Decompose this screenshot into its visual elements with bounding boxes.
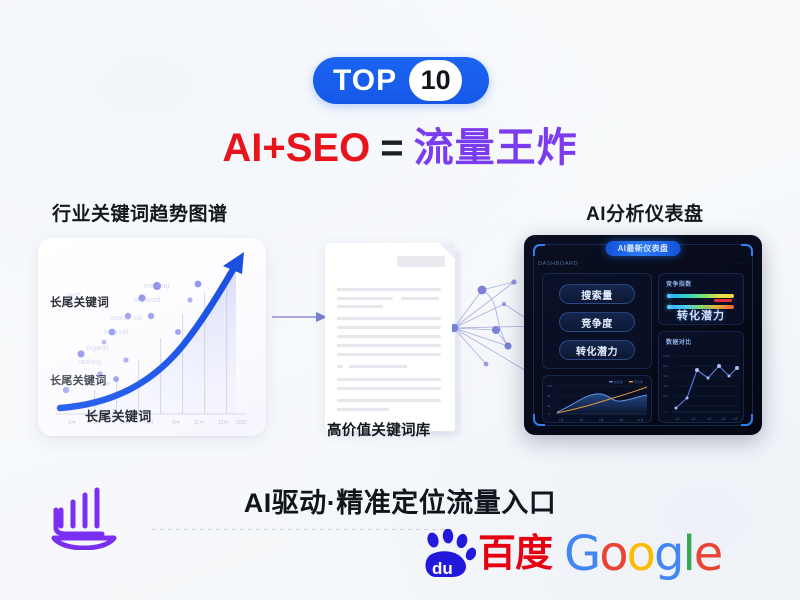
svg-text:9月: 9月	[619, 418, 624, 422]
dashboard-area-chart-panel: 10060300 1月3月6月9月12月 搜索量 转化率	[542, 375, 652, 423]
svg-text:12月: 12月	[637, 418, 643, 422]
svg-text:9月: 9月	[172, 420, 180, 426]
section-title-center: 高价值关键词库	[327, 419, 467, 440]
svg-text:转化率: 转化率	[634, 379, 643, 384]
area-chart-svg: 10060300 1月3月6月9月12月 搜索量 转化率	[543, 376, 653, 424]
keyword-label-2: 长尾关键词	[50, 372, 107, 388]
document-header-block	[397, 256, 445, 267]
metric-pill-search-volume[interactable]: 搜索量	[559, 284, 635, 304]
headline-secondary: 流量王炸	[414, 126, 578, 170]
section-title-right: AI分析仪表盘	[586, 199, 704, 226]
svg-text:3月: 3月	[579, 418, 584, 422]
dashboard-sub-label: DASHBOARD	[538, 261, 578, 267]
google-letter-g1: G	[564, 526, 599, 582]
dashboard-header-badge: AI最新仪表盘	[606, 241, 681, 256]
headline-operator: =	[380, 126, 403, 170]
metric-pills-panel: 搜索量 竞争度 转化潜力	[542, 273, 652, 369]
google-letter-g2: g	[654, 526, 682, 582]
svg-text:trending: trending	[144, 283, 169, 290]
competition-gauge-panel: 竞争指数 转化潜力	[658, 273, 744, 325]
svg-text:0: 0	[665, 410, 667, 414]
svg-text:30: 30	[547, 404, 551, 408]
trend-panel-caption: 数据对比	[666, 337, 692, 346]
google-letter-o2: o	[627, 526, 654, 582]
top-badge-number: 10	[409, 60, 462, 101]
gauge-knob-1	[667, 294, 671, 298]
svg-text:200: 200	[663, 394, 668, 398]
svg-text:2025: 2025	[236, 420, 247, 426]
section-title-left: 行业关键词趋势图谱	[52, 199, 228, 226]
dashboard-menu-icon[interactable]: ···	[736, 261, 748, 267]
google-letter-e: e	[694, 526, 722, 582]
headline-primary: AI+SEO	[222, 126, 370, 170]
google-letter-o1: o	[599, 526, 626, 582]
frame-corner-tl	[533, 244, 545, 256]
svg-text:6月: 6月	[599, 418, 604, 422]
bar-chart-pedestal-icon	[46, 482, 122, 550]
svg-text:60: 60	[547, 394, 551, 398]
google-logo: Google	[564, 530, 721, 578]
svg-text:11月: 11月	[194, 420, 204, 426]
ai-analytics-dashboard: AI最新仪表盘 DASHBOARD ··· 搜索量 竞争度 转化潜力	[524, 235, 762, 435]
data-comparison-panel: 数据对比 10008	[658, 331, 744, 423]
top-badge-label: TOP	[333, 66, 397, 96]
svg-text:12月: 12月	[218, 420, 229, 426]
svg-text:search vol: search vol	[110, 315, 142, 322]
baidu-paw-icon: du	[420, 529, 476, 579]
google-letter-l: l	[682, 526, 693, 582]
baidu-logo-text: 百度	[478, 535, 552, 573]
trend-chart-svg: trending keyword search vol long tail or…	[38, 238, 266, 436]
svg-text:100: 100	[547, 384, 552, 388]
keyword-trend-card: trending keyword search vol long tail or…	[38, 238, 266, 436]
svg-text:5月: 5月	[733, 417, 738, 421]
svg-text:600: 600	[663, 374, 668, 378]
baidu-mark-text: du	[432, 559, 453, 578]
svg-text:800: 800	[663, 364, 668, 368]
svg-text:keyword: keyword	[134, 297, 160, 304]
svg-text:搜索量: 搜索量	[614, 379, 623, 384]
svg-text:400: 400	[663, 384, 668, 388]
svg-text:1000: 1000	[663, 354, 670, 358]
document-page	[325, 243, 455, 431]
gauge-overlay-label: 转化潜力	[659, 307, 743, 323]
gauge-alert-chip	[714, 299, 732, 302]
metric-pill-conversion[interactable]: 转化潜力	[559, 340, 635, 360]
gauge-panel-caption: 竞争指数	[666, 279, 692, 288]
svg-text:long tail: long tail	[104, 329, 129, 336]
svg-text:3月: 3月	[707, 417, 712, 421]
svg-text:organic: organic	[86, 345, 109, 352]
search-engine-logos: du 百度 Google	[420, 523, 750, 585]
top-rank-badge: TOP 10	[313, 57, 489, 104]
svg-text:4月: 4月	[721, 417, 726, 421]
footer-divider	[152, 529, 452, 530]
baidu-logo: du 百度	[420, 529, 552, 579]
keyword-label-3: 长尾关键词	[85, 406, 152, 425]
svg-text:ranking: ranking	[78, 359, 101, 366]
slide-canvas: TOP 10 AI+SEO=流量王炸 行业关键词趋势图谱 AI分析仪表盘	[0, 0, 800, 600]
svg-text:0: 0	[548, 412, 550, 416]
gauge-bar-1	[668, 294, 734, 298]
page-title: AI+SEO=流量王炸	[0, 126, 800, 170]
frame-corner-tr	[741, 244, 753, 256]
svg-text:1月: 1月	[675, 417, 680, 421]
keyword-library-document: 高价值关键词库	[325, 243, 465, 439]
metric-pill-competition[interactable]: 竞争度	[559, 312, 635, 332]
svg-text:1月: 1月	[559, 418, 564, 422]
keyword-label-1: 长尾关键词	[50, 294, 109, 310]
svg-text:1月: 1月	[68, 420, 76, 426]
flow-arrow-icon	[272, 310, 328, 324]
svg-text:2月: 2月	[691, 417, 696, 421]
